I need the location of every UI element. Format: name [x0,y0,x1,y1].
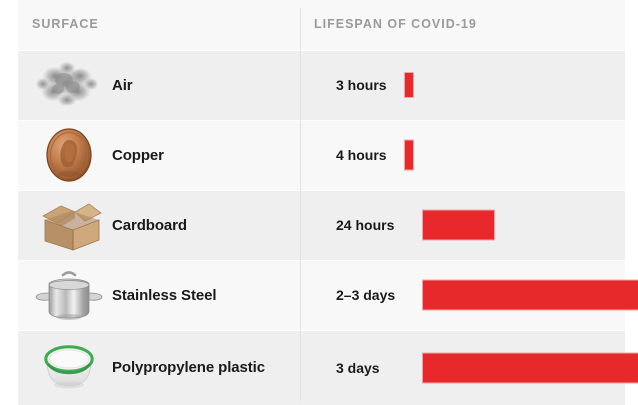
surface-label: Cardboard [112,190,187,260]
table-row: Copper 4 hours [18,120,625,190]
covid-surface-lifespan-infographic: SURFACE LIFESPAN OF COVID-19 [0,0,638,405]
surface-label: Polypropylene plastic [112,330,265,405]
table-row: Polypropylene plastic 3 days [18,330,625,405]
stainless-steel-pot-icon [30,263,108,327]
row-separator [18,330,625,331]
lifespan-bar [422,352,638,383]
lifespan-bar [404,72,414,98]
cardboard-box-icon [30,193,108,257]
lifespan-value: 24 hours [336,190,394,260]
table-row: Cardboard 24 hours [18,190,625,260]
surface-label: Copper [112,120,164,190]
copper-penny-icon [30,123,108,187]
table-row: Stainless Steel 2–3 days [18,260,625,330]
lifespan-bar [422,210,495,241]
row-separator [18,260,625,261]
surface-label: Stainless Steel [112,260,216,330]
row-separator [18,190,625,191]
table-row: Air 3 hours [18,50,625,120]
row-separator [18,50,625,51]
lifespan-bar [422,280,638,311]
lifespan-bar [404,140,414,171]
row-separator [18,120,625,121]
table-header: SURFACE LIFESPAN OF COVID-19 [18,0,625,50]
column-header-surface: SURFACE [32,17,99,31]
column-divider [300,8,301,401]
lifespan-value: 3 days [336,330,380,405]
plastic-container-icon [30,335,108,399]
lifespan-value: 3 hours [336,50,387,120]
lifespan-value: 4 hours [336,120,387,190]
surface-label: Air [112,50,133,120]
lifespan-value: 2–3 days [336,260,395,330]
smoke-cloud-icon [30,53,108,117]
column-header-lifespan: LIFESPAN OF COVID-19 [314,17,477,31]
